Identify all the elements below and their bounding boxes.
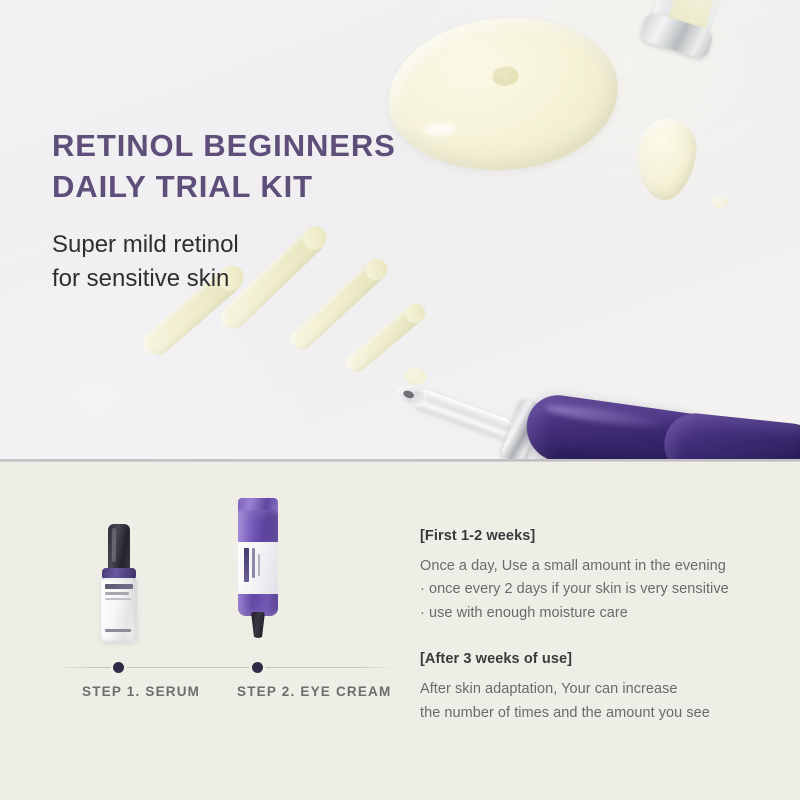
cream-blob-small-icon (630, 114, 701, 205)
instruction-line: · once every 2 days if your skin is very… (420, 578, 770, 601)
product-promo-page: RETINOL BEGINNERS DAILY TRIAL KIT Super … (0, 0, 800, 800)
step-marker-dot (252, 662, 263, 673)
step-marker-dot (113, 662, 124, 673)
hero-subtitle-line-2: for sensitive skin (52, 262, 239, 296)
bottle-body-back (661, 410, 800, 462)
instruction-body-after-three-weeks: After skin adaptation, Your can increase… (420, 678, 770, 725)
cream-blob-large-icon (382, 8, 624, 179)
step-label-serum: STEP 1. SERUM (82, 684, 200, 699)
hero-banner: RETINOL BEGINNERS DAILY TRIAL KIT Super … (0, 0, 800, 462)
serum-label-line (105, 592, 129, 595)
instruction-line: · use with enough moisture care (420, 602, 770, 625)
cream-droplet-icon (712, 196, 728, 208)
eye-cream-label-line (244, 548, 249, 582)
instruction-heading-after-three-weeks: [After 3 weeks of use] (420, 651, 770, 667)
serum-label-line (105, 629, 131, 632)
instruction-heading-first-weeks: [First 1-2 weeks] (420, 528, 770, 544)
product-image-serum (96, 524, 142, 642)
pipette-icon (390, 369, 523, 453)
usage-instructions-section: STEP 1. SERUM STEP 2. EYE CREAM [First 1… (0, 462, 800, 800)
hero-subtitle-line-1: Super mild retinol (52, 228, 239, 262)
instructions-block: [First 1-2 weeks] Once a day, Use a smal… (420, 528, 770, 725)
product-image-eye-cream (232, 498, 284, 644)
serum-label-line (105, 584, 133, 589)
step-label-eye-cream: STEP 2. EYE CREAM (237, 684, 391, 699)
instructions-spacer (420, 625, 770, 651)
instruction-line: the number of times and the amount you s… (420, 702, 770, 725)
page-title: RETINOL BEGINNERS DAILY TRIAL KIT (52, 126, 396, 208)
eye-cream-nozzle (251, 612, 265, 638)
eye-cream-label-line (258, 554, 260, 576)
hero-serum-bottle-image (398, 352, 800, 462)
instruction-body-first-weeks: Once a day, Use a small amount in the ev… (420, 555, 770, 625)
instruction-line: After skin adaptation, Your can increase (420, 678, 770, 701)
serum-label-line (105, 598, 131, 600)
hero-subtitle: Super mild retinol for sensitive skin (52, 228, 239, 296)
hero-title-line-2: DAILY TRIAL KIT (52, 167, 396, 208)
pipette-stem (411, 387, 516, 442)
hero-title-line-1: RETINOL BEGINNERS (52, 126, 396, 167)
dropper-tip-top-icon (635, 0, 734, 73)
step-timeline (55, 667, 395, 668)
instruction-line: Once a day, Use a small amount in the ev… (420, 555, 770, 578)
serum-dropper-cap (108, 524, 130, 570)
eye-cream-label-line (252, 548, 255, 578)
